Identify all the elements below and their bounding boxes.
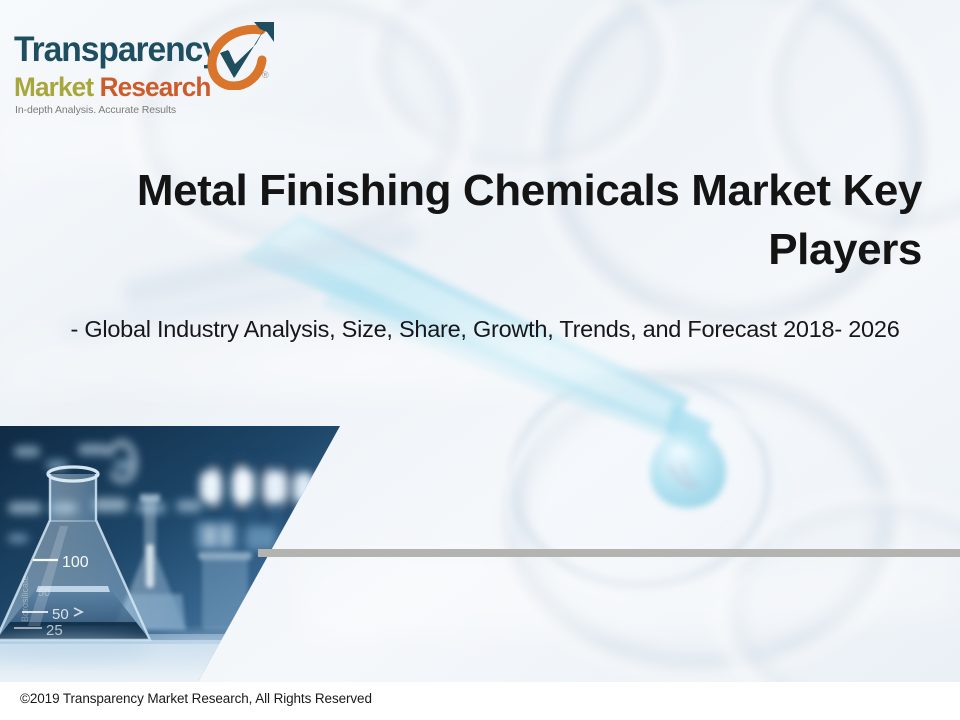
logo-line-market-research: Market Research xyxy=(14,72,211,103)
page-subtitle: - Global Industry Analysis, Size, Share,… xyxy=(40,315,930,344)
svg-text:100: 100 xyxy=(62,554,89,571)
transparency-market-research-logo[interactable]: Transparency Market Research In-depth An… xyxy=(12,28,274,128)
svg-text:50: 50 xyxy=(52,606,69,623)
gray-horizontal-rule xyxy=(258,549,960,557)
logo-word-transparency: Transparency xyxy=(14,30,220,70)
registered-trademark-icon: ® xyxy=(262,70,269,80)
copyright-notice: ©2019 Transparency Market Research, All … xyxy=(20,691,372,706)
logo-word-market: Market xyxy=(14,72,93,102)
logo-word-research: Research xyxy=(100,72,211,102)
presentation-slide: 100 50 25 50 Borosilicate xyxy=(0,0,960,720)
svg-text:Borosilicate: Borosilicate xyxy=(20,575,30,622)
logo-tagline: In-depth Analysis. Accurate Results xyxy=(15,104,176,116)
page-title: Metal Finishing Chemicals Market Key Pla… xyxy=(70,162,922,279)
